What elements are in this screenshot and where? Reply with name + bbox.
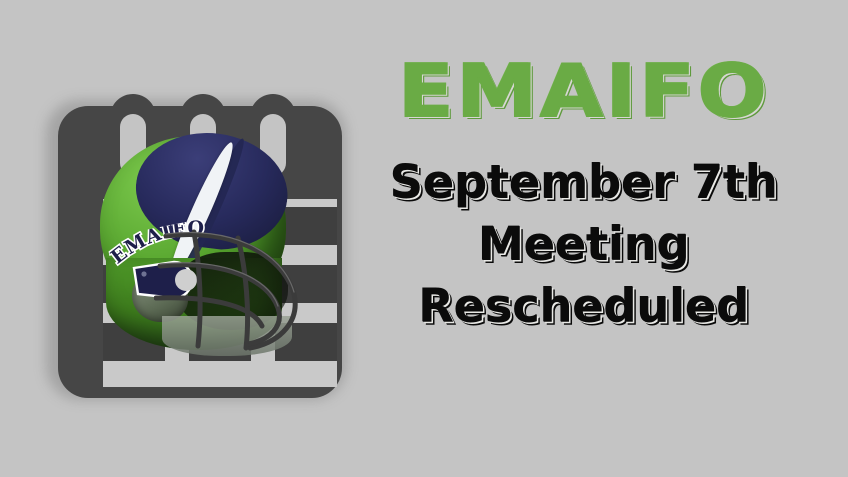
announcement-line-1: September 7th bbox=[372, 152, 796, 212]
announcement-line-3: Rescheduled bbox=[372, 276, 796, 336]
announcement-line-2: Meeting bbox=[372, 214, 796, 274]
helmet-facemask bbox=[154, 226, 312, 358]
football-helmet: EMAIFO bbox=[100, 130, 310, 358]
poster-text-block: EMAIFO September 7th Meeting Rescheduled bbox=[372, 52, 796, 404]
page-title: EMAIFO bbox=[347, 52, 822, 130]
poster-canvas: EMAIFO bbox=[0, 0, 848, 477]
calendar-helmet-graphic: EMAIFO bbox=[38, 78, 358, 408]
